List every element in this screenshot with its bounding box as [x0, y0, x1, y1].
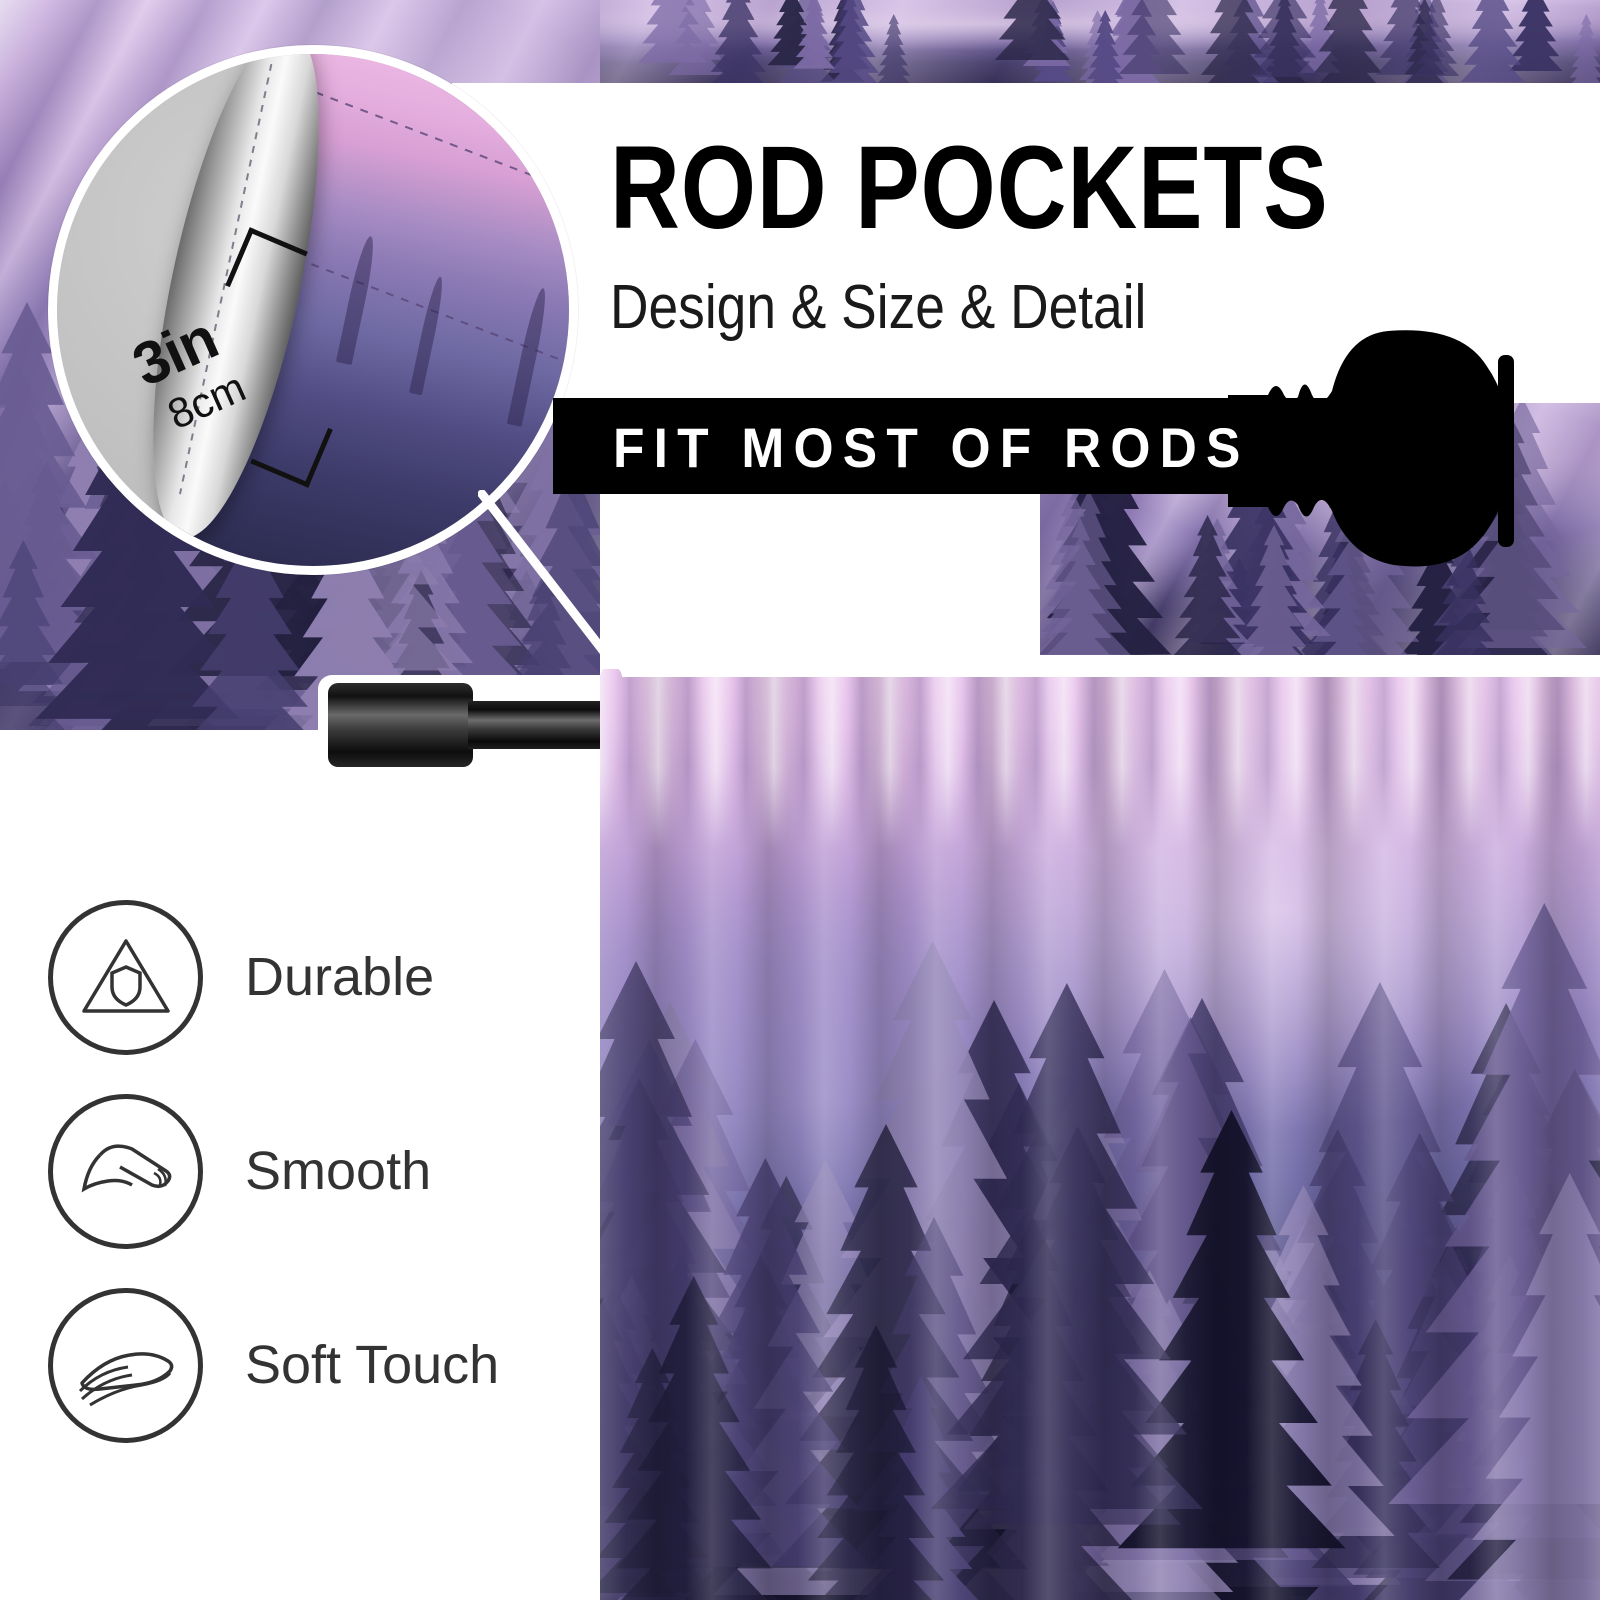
- fabric-roll-hand-icon: [48, 1094, 203, 1249]
- feature-label: Soft Touch: [245, 1334, 499, 1396]
- infographic-canvas: 3in 8cm ROD POCKETS Design & Size & Deta…: [0, 0, 1600, 1600]
- fabric-print-tree: [409, 275, 447, 395]
- rod-finial-cap: [328, 683, 473, 767]
- curtain-panel: [600, 655, 1600, 1600]
- feature-item-smooth: Smooth: [48, 1074, 568, 1268]
- page-subtitle: Design & Size & Detail: [610, 272, 1146, 343]
- pocket-depth-measurement: 3in 8cm: [127, 229, 357, 489]
- banner-label: FIT MOST OF RODS: [613, 415, 1250, 480]
- shield-triangle-icon: [48, 900, 203, 1055]
- feature-list: Durable Smooth: [48, 880, 568, 1462]
- feature-item-durable: Durable: [48, 880, 568, 1074]
- stitch-line: [300, 86, 578, 220]
- feature-item-soft-touch: Soft Touch: [48, 1268, 568, 1462]
- feature-label: Durable: [245, 946, 434, 1008]
- rod-pocket-gathers: [600, 669, 1600, 849]
- rod-pocket-magnifier-circle: 3in 8cm: [48, 45, 578, 575]
- measurement-bracket-bottom-icon: [250, 405, 333, 488]
- page-title: ROD POCKETS: [610, 134, 1329, 243]
- curtain-rod: [318, 675, 618, 775]
- open-hand-icon: [48, 1288, 203, 1443]
- rod-bar: [468, 701, 618, 749]
- measurement-bracket-top-icon: [225, 227, 308, 310]
- feature-label: Smooth: [245, 1140, 431, 1202]
- fabric-print-tree: [507, 287, 551, 427]
- decorative-rod-finial-icon: [1228, 325, 1524, 575]
- curtain-top-ruffle-edge: [600, 655, 1600, 677]
